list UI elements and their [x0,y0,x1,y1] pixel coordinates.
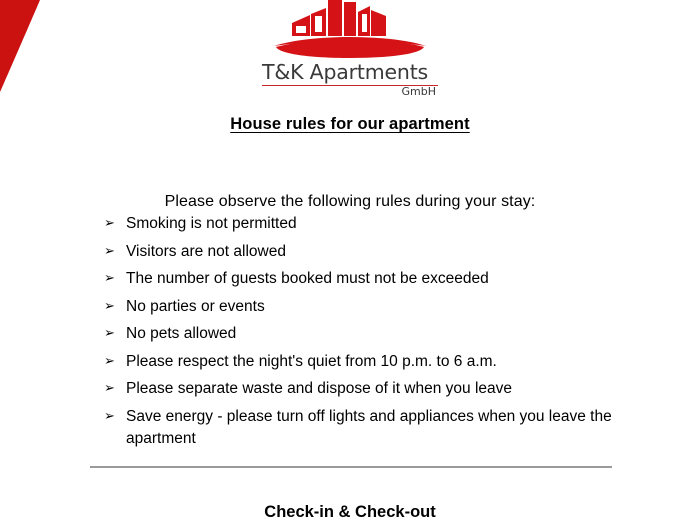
house-rules-list: ➢ Smoking is not permitted ➢ Visitors ar… [104,213,664,455]
list-item: ➢ No pets allowed [104,323,664,345]
page-title: House rules for our apartment [0,115,700,134]
list-item: ➢ Please separate waste and dispose of i… [104,378,664,400]
rule-text: Save energy - please turn off lights and… [126,406,664,450]
arrow-bullet-icon: ➢ [104,351,126,373]
list-item: ➢ Smoking is not permitted [104,213,664,235]
rule-text: Visitors are not allowed [126,241,664,263]
list-item: ➢ Save energy - please turn off lights a… [104,406,664,450]
section-divider [90,466,612,468]
rule-text: The number of guests booked must not be … [126,268,664,290]
list-item: ➢ Please respect the night's quiet from … [104,351,664,373]
arrow-bullet-icon: ➢ [104,323,126,345]
arrow-bullet-icon: ➢ [104,241,126,263]
arrow-bullet-icon: ➢ [104,213,126,235]
wordmark-legal-form: GmbH [262,86,438,98]
arrow-bullet-icon: ➢ [104,378,126,400]
rule-text: No pets allowed [126,323,664,345]
rule-text: Smoking is not permitted [126,213,664,235]
rule-text: Please respect the night's quiet from 10… [126,351,664,373]
company-logo: T&K Apartments GmbH [0,0,700,98]
wordmark-name: T&K Apartments [262,62,438,84]
rule-text: No parties or events [126,296,664,318]
list-item: ➢ The number of guests booked must not b… [104,268,664,290]
next-section-title: Check-in & Check-out [0,503,700,522]
arrow-bullet-icon: ➢ [104,406,126,428]
arrow-bullet-icon: ➢ [104,268,126,290]
intro-text: Please observe the following rules durin… [0,193,700,211]
list-item: ➢ No parties or events [104,296,664,318]
rule-text: Please separate waste and dispose of it … [126,378,664,400]
list-item: ➢ Visitors are not allowed [104,241,664,263]
arrow-bullet-icon: ➢ [104,296,126,318]
buildings-arc-logo-icon [270,0,430,62]
